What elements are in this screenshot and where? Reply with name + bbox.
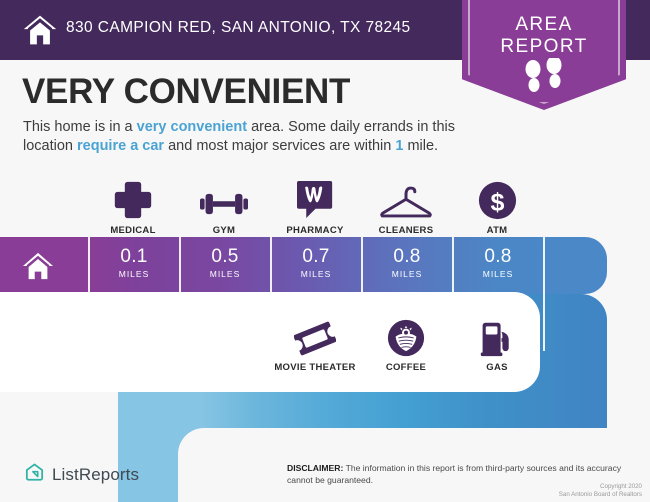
- distance-value: 0.7: [272, 246, 360, 268]
- medical-cross-icon: [88, 176, 178, 220]
- starbucks-icon: [361, 313, 451, 357]
- disclaimer-label: DISCLAIMER:: [287, 463, 343, 473]
- property-address: 830 CAMPION RED, SAN ANTONIO, TX 78245: [66, 19, 411, 37]
- category-label: MEDICAL: [88, 225, 178, 236]
- distance-value: 0.5: [181, 246, 269, 268]
- page-title: VERY CONVENIENT: [22, 72, 350, 112]
- distance-unit: MILES: [454, 269, 542, 279]
- subtitle-part4: mile.: [403, 138, 438, 154]
- category-label: GYM: [179, 225, 269, 236]
- home-icon: [22, 251, 54, 281]
- distance-value: 0.1: [90, 246, 178, 268]
- category-label: COFFEE: [361, 362, 451, 373]
- walgreens-w-icon: [270, 176, 360, 220]
- svg-text:$: $: [490, 188, 504, 216]
- subtitle-part1: This home is in a: [23, 119, 137, 135]
- category-movie-theater: MOVIE THEATER: [270, 313, 360, 373]
- distance-segment-atm: 0.8 MILES: [452, 237, 542, 294]
- home-icon: [22, 12, 58, 48]
- distance-unit: MILES: [90, 269, 178, 279]
- gas-pump-icon: [452, 313, 542, 357]
- copyright-line-2: San Antonio Board of Realtors: [342, 491, 642, 499]
- distance-segment-gym: 0.5 MILES: [179, 237, 269, 294]
- distance-segment-empty: [543, 237, 607, 294]
- distance-segment-empty-2: [543, 294, 607, 351]
- copyright-line-1: Copyright 2020: [342, 483, 642, 491]
- listreports-brand-text: ListReports: [52, 465, 139, 485]
- distance-value: 0.8: [363, 246, 451, 268]
- category-label: ATM: [452, 225, 542, 236]
- page-subtitle: This home is in a very convenient area. …: [23, 118, 463, 156]
- distance-segment-pharmacy: 0.7 MILES: [270, 237, 360, 294]
- subtitle-part3: and most major services are within: [164, 138, 395, 154]
- subtitle-highlight-1: very convenient: [137, 119, 247, 135]
- dollar-circle-icon: $: [452, 176, 542, 220]
- dumbbell-icon: [179, 176, 269, 220]
- subtitle-highlight-2: require a car: [77, 138, 164, 154]
- category-label: MOVIE THEATER: [270, 362, 360, 373]
- category-gas: GAS: [452, 313, 542, 373]
- distance-segment-medical: 0.1 MILES: [88, 237, 178, 294]
- footprints-icon: [516, 58, 572, 98]
- distance-unit: MILES: [363, 269, 451, 279]
- category-cleaners: CLEANERS: [361, 176, 451, 236]
- category-label: PHARMACY: [270, 225, 360, 236]
- distance-unit: MILES: [181, 269, 269, 279]
- ribbon-title-line2: REPORT: [462, 36, 626, 58]
- category-medical: MEDICAL: [88, 176, 178, 236]
- distance-value: 0.8: [454, 246, 542, 268]
- category-coffee: COFFEE: [361, 313, 451, 373]
- category-atm: $ ATM: [452, 176, 542, 236]
- ticket-icon: [270, 313, 360, 357]
- distance-bar-row1: 0.1 MILES 0.5 MILES 0.7 MILES 0.8 MILES …: [0, 237, 607, 294]
- distance-segment-cleaners: 0.8 MILES: [361, 237, 451, 294]
- listreports-house-tag-icon: [24, 462, 45, 488]
- ribbon-title-line1: AREA: [462, 14, 626, 36]
- category-pharmacy: PHARMACY: [270, 176, 360, 236]
- listreports-logo: ListReports: [24, 462, 139, 488]
- category-gym: GYM: [179, 176, 269, 236]
- copyright-notice: Copyright 2020 San Antonio Board of Real…: [342, 483, 642, 499]
- category-label: GAS: [452, 362, 542, 373]
- hanger-icon: [361, 176, 451, 220]
- area-report-infographic: 830 CAMPION RED, SAN ANTONIO, TX 78245 A…: [0, 0, 650, 502]
- category-label: CLEANERS: [361, 225, 451, 236]
- distance-unit: MILES: [272, 269, 360, 279]
